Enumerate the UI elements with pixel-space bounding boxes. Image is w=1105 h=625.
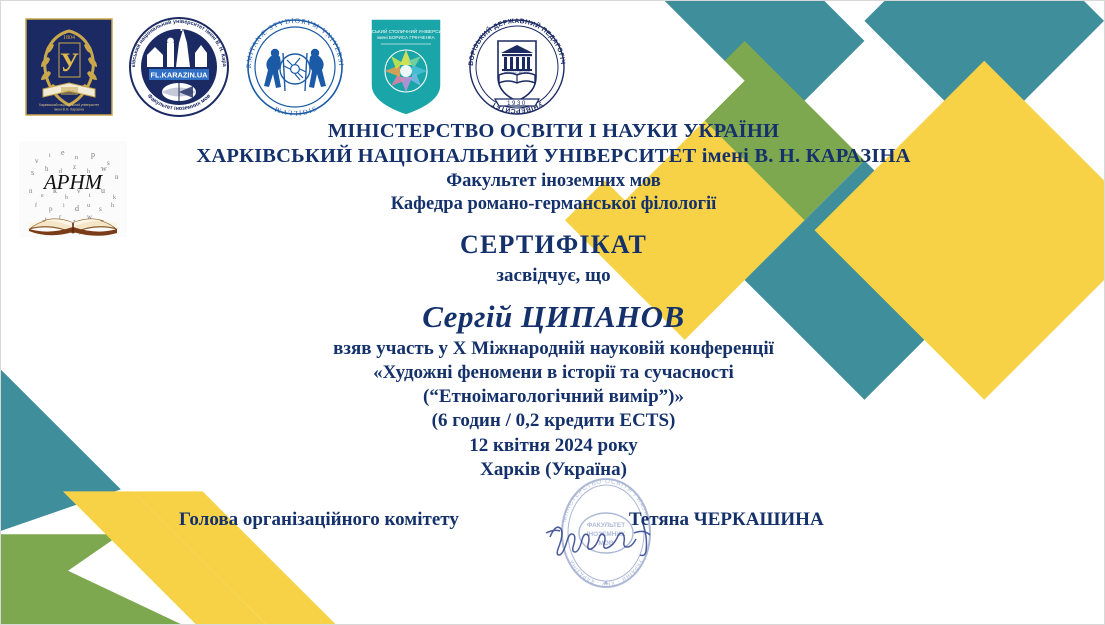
ministry-line: МІНІСТЕРСТВО ОСВІТИ І НАУКИ УКРАЇНИ [1,119,1105,144]
signatory-name: Тетяна ЧЕРКАШИНА [629,509,824,531]
signature-footer: Голова організаційного комітету Тетяна Ч… [1,509,1105,531]
conference-title-line-1: «Художні феномени в історії та сучасност… [1,361,1105,385]
university-line: ХАРКІВСЬКИЙ НАЦІОНАЛЬНИЙ УНІВЕРСИТЕТ іме… [1,144,1105,169]
credits-line: (6 годин / 0,2 кредити ECTS) [1,409,1105,433]
date-line: 12 квітня 2024 року [1,434,1105,458]
participation-line: взяв участь у X Міжнародній науковій кон… [1,337,1105,361]
official-stamp: МІНІСТЕРСТВО ОСВІТИ І НАУКИ УКРАЇНИ · ХН… [542,475,670,595]
recipient-block: Сергій ЦИПАНОВ [1,299,1105,335]
organizing-committee-role: Голова організаційного комітету [179,509,459,531]
institution-heading: МІНІСТЕРСТВО ОСВІТИ І НАУКИ УКРАЇНИ ХАРК… [1,119,1105,216]
department-line: Кафедра романо-германської філології [1,193,1105,216]
recipient-name: Сергій ЦИПАНОВ [1,299,1105,335]
certificate-body: взяв участь у X Міжнародній науковій кон… [1,337,1105,482]
certificate-title-block: СЕРТИФІКАТ засвідчує, що [1,229,1105,288]
certificate-title: СЕРТИФІКАТ [1,229,1105,262]
faculty-line: Факультет іноземних мов [1,170,1105,193]
conference-title-line-2: (“Етноімагологічний вимір”)» [1,385,1105,409]
certificate-subtitle: засвідчує, що [1,264,1105,289]
certificate-page: У 1804 Харківський національний універси… [0,0,1105,625]
svg-text:ІНОЗЕМНИХ: ІНОЗЕМНИХ [587,531,626,538]
